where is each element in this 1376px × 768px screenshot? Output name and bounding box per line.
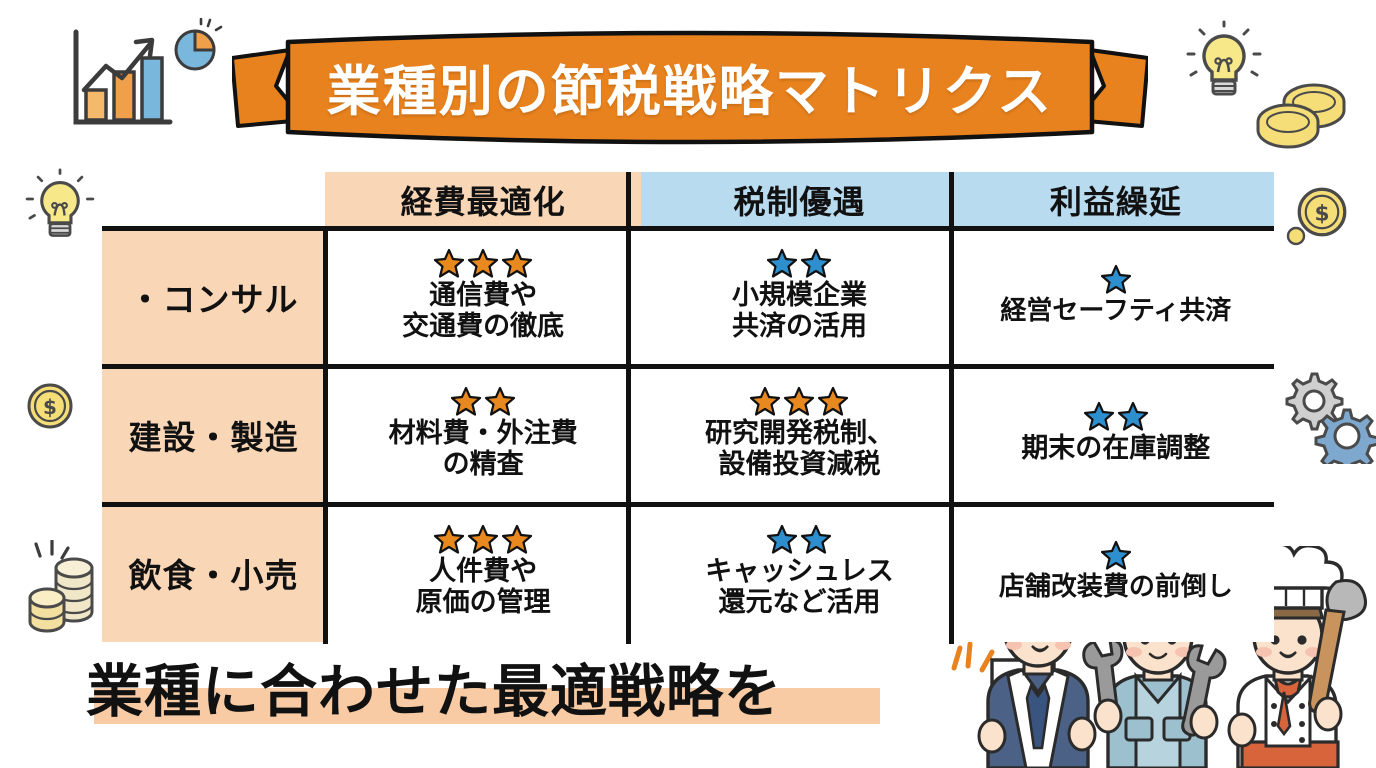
cell-text: 通信費や 交通費の徹底 bbox=[402, 280, 564, 343]
column-header-tax-benefit: 税制優遇 bbox=[641, 172, 957, 228]
star-icon bbox=[1101, 264, 1131, 294]
star-icon bbox=[767, 248, 797, 278]
grid-line-h bbox=[102, 226, 1274, 231]
star-icon bbox=[485, 386, 515, 416]
strategy-matrix-table: 経費最適化 税制優遇 利益繰延 ・コンサル 通信費や 交通費の徹底 小規模企業 … bbox=[102, 172, 1274, 644]
star-icon bbox=[1118, 401, 1148, 431]
table-row: 建設・製造 材料費・外注費 の精査 研究開発税制、 設備投資減税 期末の在庫調整 bbox=[102, 366, 1274, 504]
star-rating bbox=[434, 524, 532, 554]
star-rating bbox=[750, 386, 848, 416]
bar-chart-icon bbox=[58, 18, 178, 138]
svg-text:$: $ bbox=[1314, 202, 1329, 227]
dollar-coin-icon: $ bbox=[26, 382, 74, 430]
column-header-expense: 経費最適化 bbox=[325, 172, 641, 228]
row-label-consulting: ・コンサル bbox=[102, 228, 325, 366]
dot-icon bbox=[1286, 226, 1306, 246]
cell-text: 店舗改装費の前倒し bbox=[999, 572, 1233, 602]
star-icon bbox=[434, 524, 464, 554]
cell-construction-expense: 材料費・外注費 の精査 bbox=[325, 366, 641, 504]
star-icon bbox=[451, 386, 481, 416]
cell-text: キャッシュレス 還元など活用 bbox=[705, 556, 893, 619]
star-icon bbox=[767, 524, 797, 554]
lightbulb-icon bbox=[18, 168, 102, 252]
star-icon bbox=[801, 524, 831, 554]
star-icon bbox=[468, 248, 498, 278]
infographic-canvas: $ $ bbox=[0, 0, 1376, 768]
pie-chart-icon bbox=[168, 18, 228, 78]
cell-text: 経営セーフティ共済 bbox=[1000, 296, 1231, 326]
column-header-profit-deferral: 利益繰延 bbox=[958, 172, 1274, 228]
title-banner: 業種別の節税戦略マトリクス bbox=[232, 28, 1148, 158]
table-header-row: 経費最適化 税制優遇 利益繰延 bbox=[102, 172, 1274, 228]
star-icon bbox=[784, 386, 814, 416]
star-rating bbox=[1101, 264, 1131, 294]
cell-construction-tax-benefit: 研究開発税制、 設備投資減税 bbox=[641, 366, 957, 504]
star-rating bbox=[434, 248, 532, 278]
cell-text: 期末の在庫調整 bbox=[1021, 433, 1210, 464]
star-icon bbox=[1101, 540, 1131, 570]
row-label-construction: 建設・製造 bbox=[102, 366, 325, 504]
star-icon bbox=[434, 248, 464, 278]
corner-cell bbox=[102, 172, 325, 228]
table-row: ・コンサル 通信費や 交通費の徹底 小規模企業 共済の活用 経営セーフティ共済 bbox=[102, 228, 1274, 366]
page-title: 業種別の節税戦略マトリクス bbox=[232, 65, 1148, 119]
grid-line-v bbox=[949, 172, 954, 644]
grid-line-h bbox=[102, 364, 1274, 369]
cell-food-retail-profit-deferral: 店舗改装費の前倒し bbox=[958, 504, 1274, 642]
star-icon bbox=[1084, 401, 1114, 431]
cell-text: 人件費や 原価の管理 bbox=[416, 556, 551, 619]
star-rating bbox=[1101, 540, 1131, 570]
grid-line-v bbox=[626, 172, 631, 644]
star-rating bbox=[1084, 401, 1148, 431]
caption-text: 業種に合わせた最適戦略を bbox=[86, 660, 886, 726]
bottom-caption: 業種に合わせた最適戦略を bbox=[86, 660, 886, 732]
star-icon bbox=[750, 386, 780, 416]
svg-text:$: $ bbox=[43, 395, 57, 419]
star-icon bbox=[502, 248, 532, 278]
star-icon bbox=[801, 248, 831, 278]
cell-consulting-profit-deferral: 経営セーフティ共済 bbox=[958, 228, 1274, 366]
grid-line-h bbox=[102, 502, 1274, 507]
cell-consulting-expense: 通信費や 交通費の徹底 bbox=[325, 228, 641, 366]
grid-line-v bbox=[323, 228, 328, 644]
cell-construction-profit-deferral: 期末の在庫調整 bbox=[958, 366, 1274, 504]
cell-text: 研究開発税制、 設備投資減税 bbox=[705, 418, 894, 481]
star-rating bbox=[767, 248, 831, 278]
cell-food-retail-tax-benefit: キャッシュレス 還元など活用 bbox=[641, 504, 957, 642]
star-icon bbox=[468, 524, 498, 554]
star-rating bbox=[767, 524, 831, 554]
star-icon bbox=[502, 524, 532, 554]
star-icon bbox=[818, 386, 848, 416]
table-row: 飲食・小売 人件費や 原価の管理 キャッシュレス 還元など活用 店舗改装費の前倒… bbox=[102, 504, 1274, 642]
cell-text: 小規模企業 共済の活用 bbox=[732, 280, 867, 343]
row-label-food-retail: 飲食・小売 bbox=[102, 504, 325, 642]
cell-text: 材料費・外注費 の精査 bbox=[389, 418, 578, 481]
coins-icon bbox=[1248, 70, 1358, 150]
cell-food-retail-expense: 人件費や 原価の管理 bbox=[325, 504, 641, 642]
cell-consulting-tax-benefit: 小規模企業 共済の活用 bbox=[641, 228, 957, 366]
star-rating bbox=[451, 386, 515, 416]
gears-icon bbox=[1282, 368, 1376, 464]
